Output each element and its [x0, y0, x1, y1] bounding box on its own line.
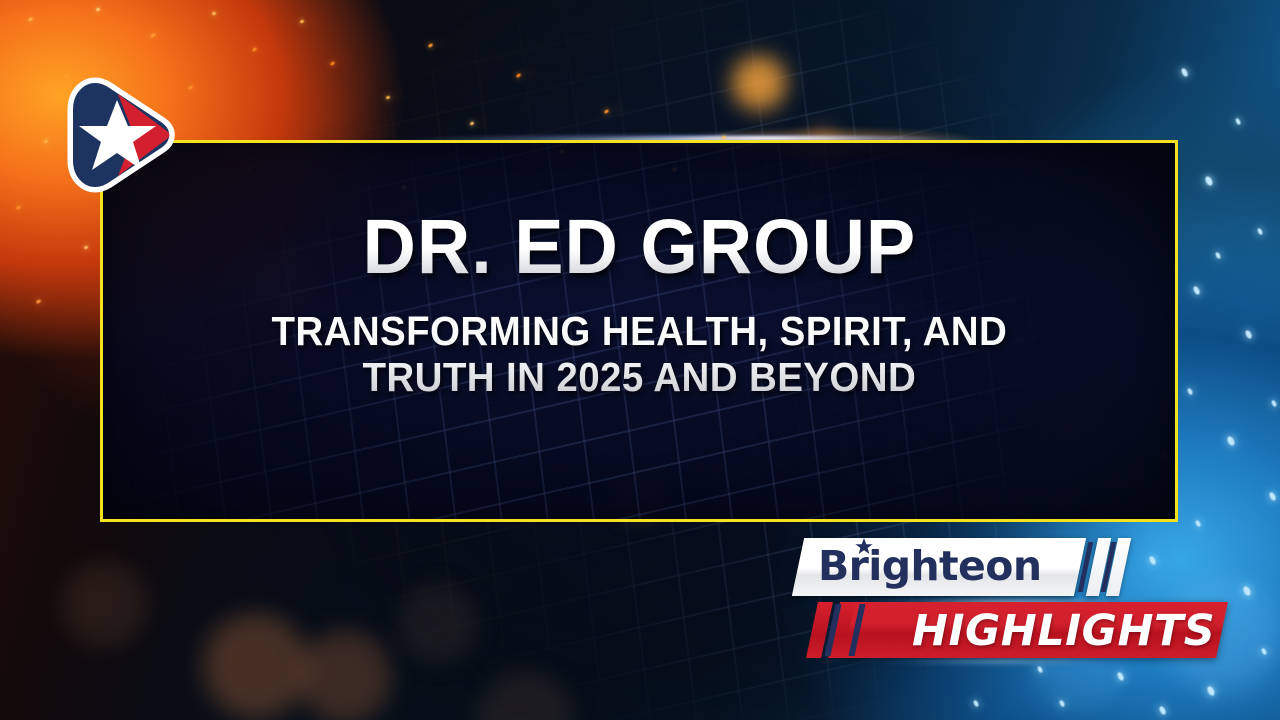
badge-program-text: HIGHLIGHTS [912, 606, 1215, 656]
brighteon-logo[interactable] [60, 76, 176, 194]
badge-brand-text: Brighteon [818, 542, 1041, 590]
subtitle-line-2: TRUTH IN 2025 AND BEYOND [271, 354, 1007, 401]
video-title-card: DR. ED GROUP TRANSFORMING HEALTH, SPIRIT… [0, 0, 1280, 720]
page-title: DR. ED GROUP [362, 208, 916, 287]
bokeh-orb [392, 578, 484, 670]
brighteon-highlights-badge[interactable]: Brighteon HIGHLIGHTS [792, 538, 1222, 660]
subtitle-line-1: TRANSFORMING HEALTH, SPIRIT, AND [271, 308, 1007, 355]
play-star-logo-icon [60, 76, 176, 194]
bokeh-orb [728, 52, 790, 114]
page-subtitle: TRANSFORMING HEALTH, SPIRIT, AND TRUTH I… [271, 308, 1007, 401]
bokeh-orb [292, 624, 398, 720]
badge-star-icon [854, 537, 874, 557]
title-block: DR. ED GROUP TRANSFORMING HEALTH, SPIRIT… [100, 140, 1178, 522]
bokeh-orb [56, 556, 152, 652]
